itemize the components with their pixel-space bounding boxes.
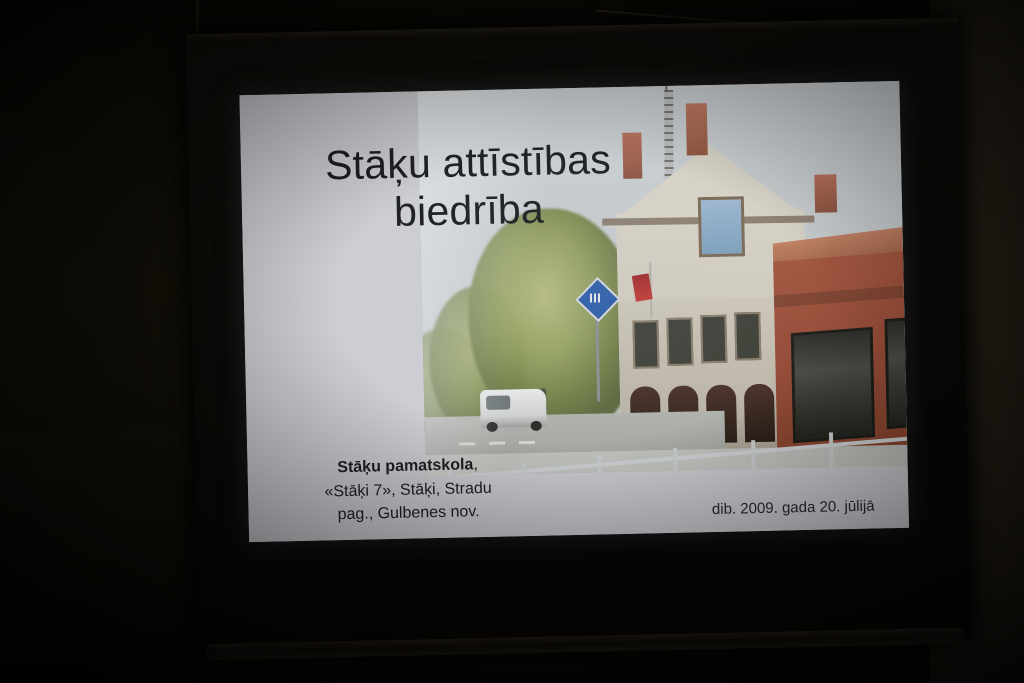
slide-title-line-2: biedrība [254, 182, 685, 240]
screenshot-root: dib. 2009. gada 20. jūlijā Stāķu attīstī… [0, 0, 1024, 683]
school-name-comma: , [473, 457, 478, 474]
founded-note: dib. 2009. gada 20. jūlijā [712, 498, 875, 519]
presentation-slide: dib. 2009. gada 20. jūlijā Stāķu attīstī… [239, 81, 909, 542]
projector-screen[interactable]: dib. 2009. gada 20. jūlijā Stāķu attīstī… [186, 18, 971, 653]
wall-panel-left [0, 430, 205, 683]
school-name: Stāķu pamatskola [337, 457, 473, 477]
slide-address-block: Stāķu pamatskola, «Stāķi 7», Stāķi, Stra… [257, 452, 558, 528]
slide-title: Stāķu attīstības biedrība [252, 134, 684, 240]
